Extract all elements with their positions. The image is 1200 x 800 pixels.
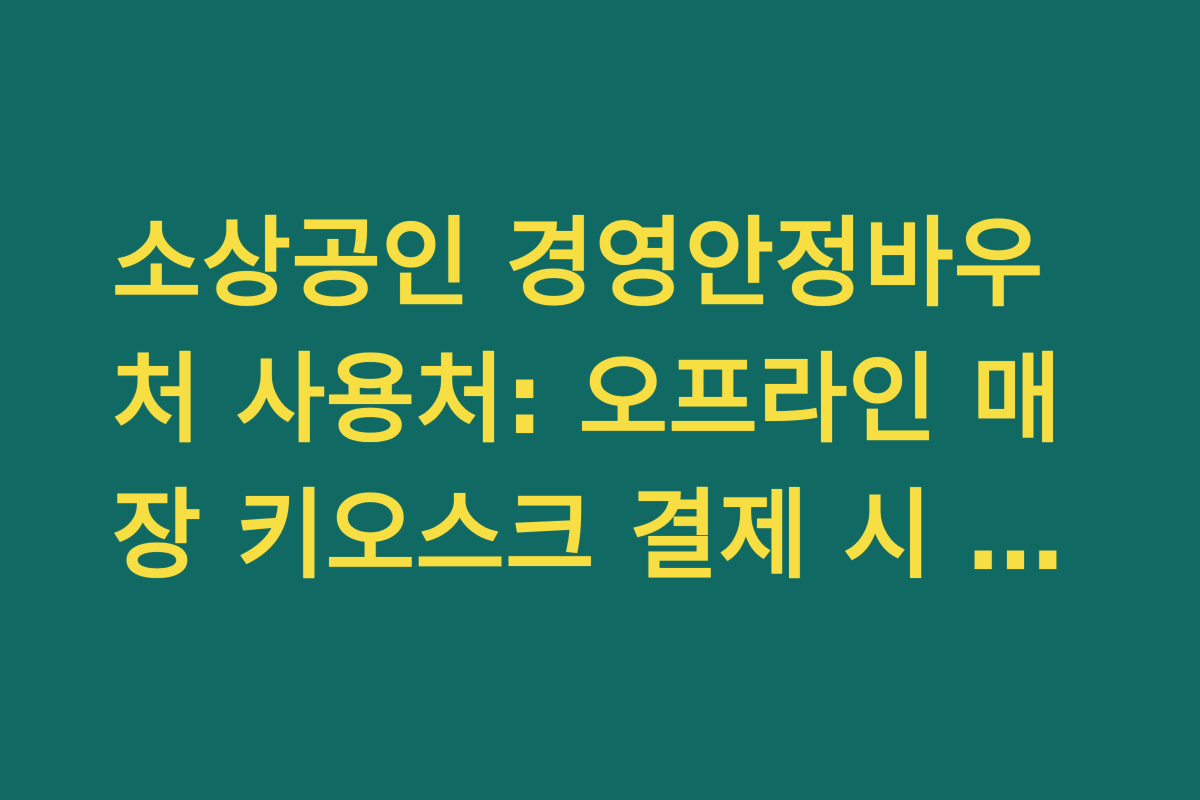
headline-line-2: 처 사용처: 오프라인 매 xyxy=(112,332,1102,468)
headline-line-1: 소상공인 경영안정바우 xyxy=(112,196,1102,332)
headline-line-3: 장 키오스크 결제 시 … xyxy=(112,468,1102,604)
social-card-canvas: 소상공인 경영안정바우 처 사용처: 오프라인 매 장 키오스크 결제 시 … xyxy=(0,0,1200,800)
headline-text-block: 소상공인 경영안정바우 처 사용처: 오프라인 매 장 키오스크 결제 시 … xyxy=(112,0,1102,800)
